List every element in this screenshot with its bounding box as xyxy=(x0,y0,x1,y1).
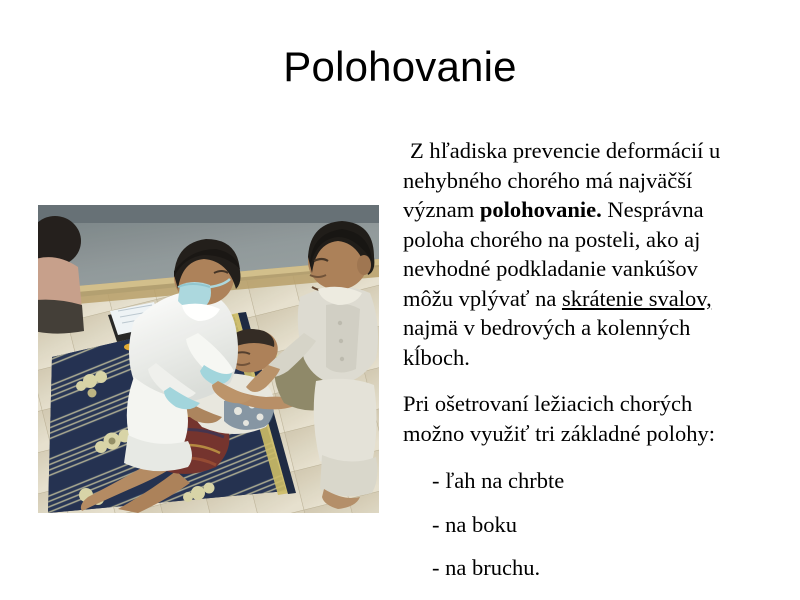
paragraph-1-bold-term: polohovanie. xyxy=(480,197,602,222)
list-item-supine: - ľah na chrbte xyxy=(403,466,753,496)
list-item-prone: - na bruchu. xyxy=(403,553,753,583)
photo-patient-positioning xyxy=(38,205,379,513)
positions-list: - ľah na chrbte - na boku - na bruchu. xyxy=(403,466,753,583)
list-item-side: - na boku xyxy=(403,510,753,540)
paragraph-1-underlined-term: skrátenie svalov, xyxy=(562,286,712,311)
paragraph-prevention: Z hľadiska prevencie deformácií u nehybn… xyxy=(403,136,753,372)
slide-canvas: Polohovanie xyxy=(0,0,800,600)
paragraph-1-segment-5: najmä v bedrových a kolenných kĺboch. xyxy=(403,315,690,370)
page-title: Polohovanie xyxy=(0,44,800,90)
photo-illustration xyxy=(38,205,379,513)
body-text-column: Z hľadiska prevencie deformácií u nehybn… xyxy=(403,136,753,597)
paragraph-three-positions: Pri ošetrovaní ležiacich chorých možno v… xyxy=(403,389,753,448)
